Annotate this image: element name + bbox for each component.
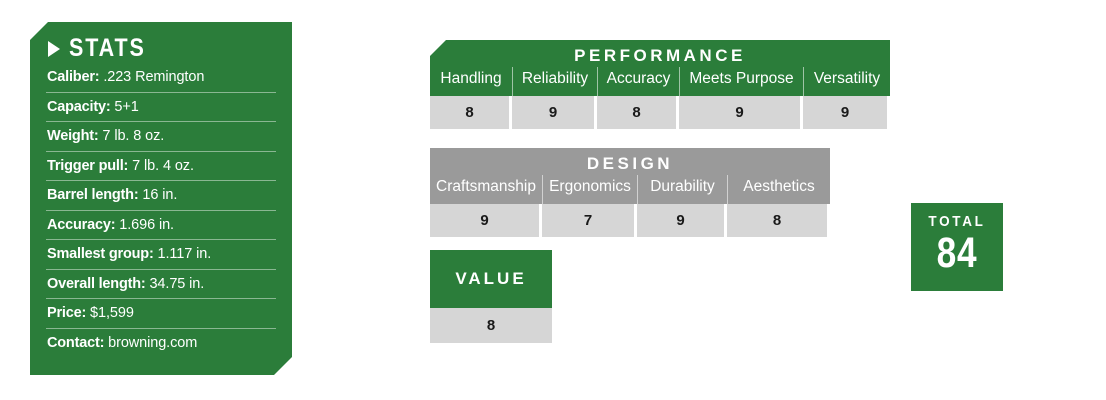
stat-label: Contact: [47,335,104,351]
stat-row: Smallest group: 1.117 in. [46,239,276,269]
total-label: TOTAL [916,214,999,229]
performance-score-cell: 9 [512,96,594,129]
design-category-cell: Ergonomics [542,175,637,204]
stats-title: STATS [69,36,146,61]
stat-label: Caliber: [47,69,99,85]
stat-row: Barrel length: 16 in. [46,180,276,210]
stat-value: 7 lb. 4 oz. [128,158,194,174]
stat-row: Weight: 7 lb. 8 oz. [46,121,276,151]
performance-header: PERFORMANCE [430,40,890,67]
stat-value: browning.com [104,335,197,351]
stat-label: Weight: [47,128,99,144]
stat-row: Contact: browning.com [46,328,276,358]
stat-value: 5+1 [110,99,138,115]
performance-score-cell: 9 [679,96,800,129]
value-score-cell: 8 [430,308,552,343]
stat-label: Price: [47,305,86,321]
total-value: 84 [919,231,994,276]
stat-value: 7 lb. 8 oz. [99,128,165,144]
performance-category-cell: Meets Purpose [679,67,803,96]
stat-row: Price: $1,599 [46,298,276,328]
stats-header: STATS [46,34,276,67]
design-category-cell: Aesthetics [727,175,830,204]
performance-score-table: PERFORMANCE HandlingReliabilityAccuracyM… [430,40,890,129]
design-score-cell: 7 [542,204,634,237]
design-score-cell: 9 [430,204,539,237]
stat-label: Smallest group: [47,246,154,262]
stat-row: Trigger pull: 7 lb. 4 oz. [46,151,276,181]
stat-value: 1.117 in. [154,246,212,262]
stat-value: 16 in. [138,187,177,203]
performance-category-cell: Accuracy [597,67,679,96]
performance-score-row: 89899 [430,96,890,129]
stat-row: Overall length: 34.75 in. [46,269,276,299]
performance-score-cell: 9 [803,96,887,129]
stat-value: 34.75 in. [146,276,205,292]
performance-category-cell: Reliability [512,67,597,96]
play-triangle-icon [48,41,60,57]
stat-label: Accuracy: [47,217,115,233]
value-score-table: VALUE 8 [430,250,552,343]
design-header: DESIGN [430,148,830,175]
total-score-box: TOTAL 84 [911,203,1003,291]
stat-value: .223 Remington [99,69,204,85]
design-category-cell: Durability [637,175,727,204]
stat-row: Capacity: 5+1 [46,92,276,122]
design-score-cell: 9 [637,204,724,237]
design-score-cell: 8 [727,204,827,237]
stat-label: Overall length: [47,276,146,292]
performance-score-cell: 8 [597,96,676,129]
performance-category-cell: Versatility [803,67,890,96]
stat-row: Caliber: .223 Remington [46,67,276,92]
stat-row: Accuracy: 1.696 in. [46,210,276,240]
design-score-row: 9798 [430,204,830,237]
performance-category-row: HandlingReliabilityAccuracyMeets Purpose… [430,67,890,96]
stat-label: Trigger pull: [47,158,128,174]
stat-value: 1.696 in. [115,217,174,233]
performance-score-cell: 8 [430,96,509,129]
stats-panel: STATS Caliber: .223 RemingtonCapacity: 5… [30,22,292,375]
value-score-row: 8 [430,308,552,343]
stats-list: Caliber: .223 RemingtonCapacity: 5+1Weig… [46,67,276,357]
performance-category-cell: Handling [430,67,512,96]
design-score-table: DESIGN CraftsmanshipErgonomicsDurability… [430,148,830,237]
design-category-cell: Craftsmanship [430,175,542,204]
stat-value: $1,599 [86,305,134,321]
value-header: VALUE [430,250,552,308]
stat-label: Barrel length: [47,187,138,203]
design-category-row: CraftsmanshipErgonomicsDurabilityAesthet… [430,175,830,204]
stat-label: Capacity: [47,99,110,115]
